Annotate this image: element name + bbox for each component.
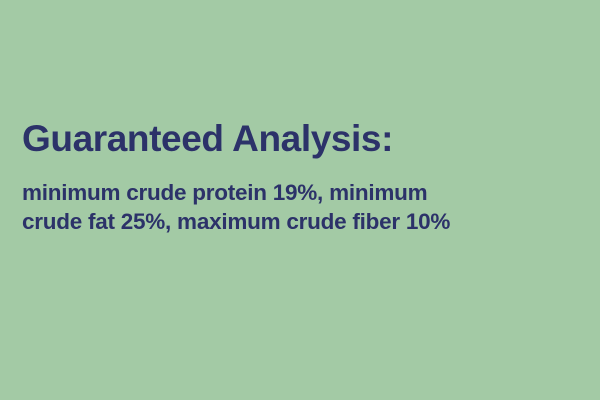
guaranteed-analysis-body: minimum crude protein 19%, minimum crude… [22,178,586,236]
text-block: Guaranteed Analysis: minimum crude prote… [22,116,586,236]
page-title: Guaranteed Analysis: [22,116,586,162]
guaranteed-analysis-panel: Guaranteed Analysis: minimum crude prote… [0,0,600,400]
body-line: crude fat 25%, maximum crude fiber 10% [22,207,586,236]
body-line: minimum crude protein 19%, minimum [22,178,586,207]
